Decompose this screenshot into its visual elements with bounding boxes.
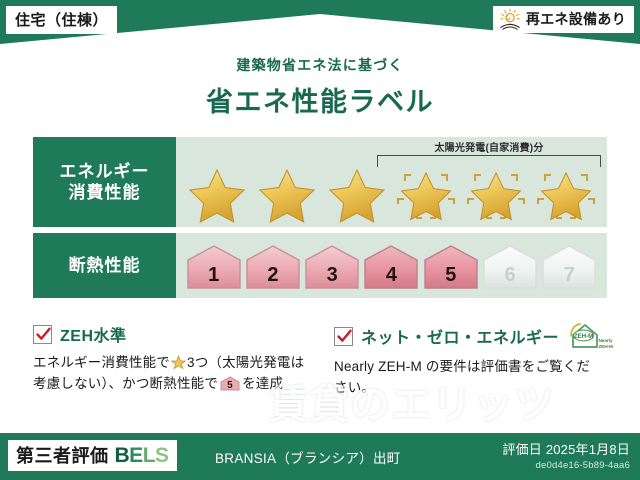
zeh-standard-description: エネルギー消費性能で3つ（太陽光発電は考慮しない）、かつ断熱性能で5を達成 [33,353,308,395]
renewable-equipment-badge: 再エネ設備あり [493,6,634,33]
insulation-level-number: 3 [303,265,361,285]
energy-rating-area: 太陽光発電(自家消費)分 [176,137,607,227]
star-icon [186,165,248,223]
star-item-solar [465,165,527,223]
zeh-section: ZEH水準 エネルギー消費性能で3つ（太陽光発電は考慮しない）、かつ断熱性能で5… [33,322,607,418]
performance-panel: エネルギー 消費性能 太陽光発電(自家消費)分 [33,137,607,304]
insulation-level-item: 7 [540,242,598,292]
title-block: 建築物省エネ法に基づく 省エネ性能ラベル [0,55,640,119]
zeh-m-logo-subtext: Nearly ZEH-M [598,338,613,349]
star-solar-icon [535,165,597,223]
insulation-label: 断熱性能 [69,255,141,276]
zeh-desc-part2: 3つ（太陽光発電 [187,355,291,370]
zeh-m-logo: ZEH-M Nearly ZEH-M [569,322,611,350]
insulation-level-group: 1 2 3 [176,239,607,294]
footer-band: 第三者評価 BELS BRANSIA（ブランシア）出町 評価日 2025年1月8… [0,433,640,480]
energy-performance-label: 住宅（住棟） 再エネ設備あり 建築物省エ [0,0,640,480]
insulation-level-number: 6 [481,265,539,285]
evaluation-info: 評価日 2025年1月8日 de0d4e16-5b89-4aa6 [502,439,630,471]
star-solar-icon [465,165,527,223]
zeh-standard-head: ZEH水準 [33,322,308,346]
insulation-level-number: 5 [422,265,480,285]
inline-house-number: 5 [220,381,240,391]
net-zero-energy-block: ネット・ゼロ・エネルギー ZEH-M Nearly ZEH-M Nearly Z… [320,322,607,418]
header-band: 住宅（住棟） 再エネ設備あり [0,0,640,44]
check-icon [336,328,353,345]
bels-logo: BELS [115,444,169,468]
zeh-standard-block: ZEH水準 エネルギー消費性能で3つ（太陽光発電は考慮しない）、かつ断熱性能で5… [33,322,320,418]
insulation-level-number: 1 [185,265,243,285]
title-main: 省エネ性能ラベル [0,80,640,119]
building-type-label: 住宅（住棟） [15,12,108,29]
star-inline-icon [171,355,186,369]
energy-performance-row: エネルギー 消費性能 太陽光発電(自家消費)分 [33,137,607,227]
zeh-standard-title: ZEH水準 [60,322,127,346]
star-solar-icon [395,165,457,223]
insulation-level-number: 4 [362,265,420,285]
building-type-tab: 住宅（住棟） [6,6,117,34]
zeh-desc-part1: エネルギー消費性能で [33,355,170,370]
star-item-solar [535,165,597,223]
net-zero-checkbox[interactable] [334,327,353,346]
sun-solar-icon [498,8,522,30]
insulation-level-item: 1 [185,242,243,292]
svg-text:ZEH-M: ZEH-M [574,333,594,340]
energy-label-line2: 消費性能 [69,182,141,203]
evaluation-date: 評価日 2025年1月8日 [502,439,630,458]
insulation-level-number: 7 [540,265,598,285]
insulation-level-item: 3 [303,242,361,292]
check-icon [35,326,52,343]
bels-chip: 第三者評価 BELS [8,440,177,471]
insulation-label-cell: 断熱性能 [33,233,176,298]
star-icon [256,165,318,223]
star-icon [326,165,388,223]
star-item [186,165,248,223]
net-zero-description: Nearly ZEH-M の要件は評価書をご覧ください。 [334,357,595,399]
zeh-desc-part4: を達成 [242,376,283,391]
star-item [326,165,388,223]
energy-label-line1: エネルギー [60,161,150,182]
net-zero-head: ネット・ゼロ・エネルギー ZEH-M Nearly ZEH-M [334,322,595,350]
insulation-level-item: 5 [422,242,480,292]
house-inline-icon: 5 [220,376,240,391]
star-item-solar [395,165,457,223]
insulation-performance-row: 断熱性能 [33,233,607,298]
insulation-level-item: 4 [362,242,420,292]
evaluation-id: de0d4e16-5b89-4aa6 [502,460,630,471]
star-item [256,165,318,223]
zeh-standard-checkbox[interactable] [33,325,52,344]
renewable-badge-label: 再エネ設備あり [526,9,626,29]
insulation-level-item: 6 [481,242,539,292]
title-subtitle: 建築物省エネ法に基づく [0,55,640,75]
insulation-level-number: 2 [244,265,302,285]
property-name: BRANSIA（ブランシア）出町 [215,447,401,467]
insulation-rating-area: 1 2 3 [176,233,607,298]
net-zero-title: ネット・ゼロ・エネルギー [361,324,559,348]
bels-jp-label: 第三者評価 [16,442,109,468]
solar-bracket-label: 太陽光発電(自家消費)分 [377,139,601,154]
insulation-level-item: 2 [244,242,302,292]
star-rating-group [176,165,607,223]
energy-performance-label-cell: エネルギー 消費性能 [33,137,176,227]
